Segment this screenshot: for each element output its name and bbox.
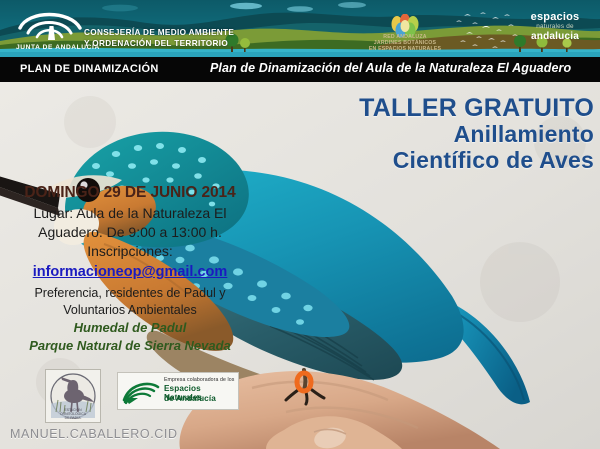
red-jardines-botanicos-logo: RED ANDALUZA JARDINES BOTÁNICOS EN ESPAC… [366,14,444,52]
plan-strip-right-label: Plan de Dinamización del Aula de la Natu… [210,61,571,75]
title-line-1: TALLER GRATUITO [334,94,594,122]
preference-line-2: Voluntarios Ambientales [6,302,254,319]
plan-strip: PLAN DE DINAMIZACIÓN Plan de Dinamizació… [0,57,600,82]
consejeria-text: CONSEJERÍA DE MEDIO AMBIENTE Y ORDENACIÓ… [84,27,334,49]
event-place-line-2: Aguadero. De 9:00 a 13:00 h. [6,223,254,242]
espacios-line-3: andalucia [520,32,590,42]
espacios-line-1: espacios [520,12,590,22]
colaboradora-line-3: de Andalucía [164,394,216,403]
event-info-block: DOMINGO 29 DE JUNIO 2014 Lugar: Aula de … [6,183,254,355]
andalucia-arcs-icon [121,376,161,406]
birds-flock-icon [452,10,528,52]
consejeria-line-1: CONSEJERÍA DE MEDIO AMBIENTE [84,28,234,37]
preference-line-1: Preferencia, residentes de Padul y [6,285,254,302]
rjb-line-3: EN ESPACIOS NATURALES [366,46,444,52]
poster-title: TALLER GRATUITO Anillamiento Científico … [334,94,594,174]
humedal-de-padul-label: Humedal de Padul [6,319,254,337]
title-line-2: Anillamiento [334,122,594,148]
estacion-ornitologica-logo: ESTACIÓN ORNITOLÓGICA DE PADUL [45,369,101,423]
header-banner: JUNTA DE ANDALUCIA CONSEJERÍA DE MEDIO A… [0,0,600,57]
parque-natural-label: Parque Natural de Sierra Nevada [6,337,254,355]
rjb-logo-text: RED ANDALUZA JARDINES BOTÁNICOS EN ESPAC… [366,34,444,52]
event-date: DOMINGO 29 DE JUNIO 2014 [6,183,254,202]
event-place-line-1: Lugar: Aula de la Naturaleza El [6,204,254,223]
colaboradora-line-1: Empresa colaboradora de los [164,377,234,383]
espacios-naturales-logo: espacios naturales de andalucia [520,12,590,46]
plan-strip-left-label: PLAN DE DINAMIZACIÓN [20,63,159,75]
photographer-watermark: MANUEL.CABALLERO.CID [10,427,178,441]
registration-email-link[interactable]: informacioneop@gmail.com [6,262,254,283]
poster-root: JUNTA DE ANDALUCIA CONSEJERÍA DE MEDIO A… [0,0,600,449]
consejeria-line-2: Y ORDENACIÓN DEL TERRITORIO [84,39,228,48]
orn-logo-line-3: DE PADUL [65,416,82,420]
title-line-3: Científico de Aves [334,148,594,174]
inscriptions-label: Inscripciones: [6,242,254,261]
empresa-colaboradora-logo: Empresa colaboradora de los Espacios Nat… [117,372,239,410]
